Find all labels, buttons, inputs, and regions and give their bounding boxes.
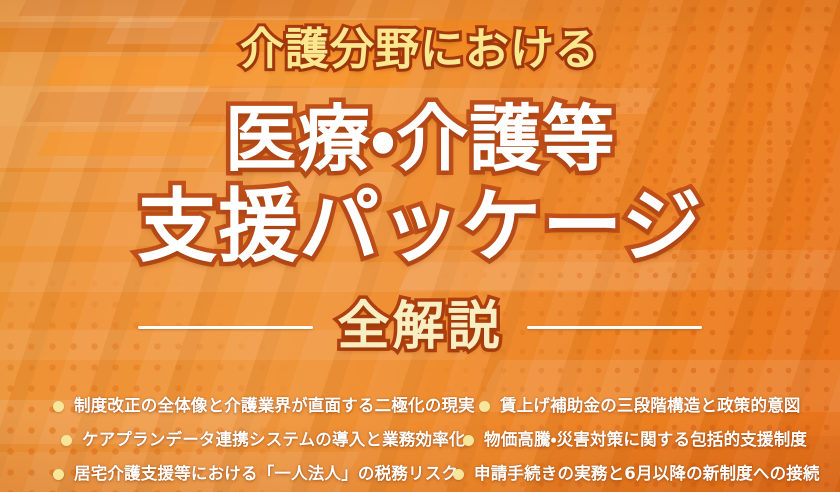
bullet-label: 申請手続きの実務と6月以降の新制度への接続	[474, 466, 820, 483]
bullet-dot-icon	[61, 435, 72, 446]
bullet-column-right: 賃上げ補助金の三段階構造と政策的意図 物価高騰・災害対策に関する包括的支援制度 …	[453, 388, 825, 492]
rule-left	[138, 326, 313, 329]
bullet-label: 賃上げ補助金の三段階構造と政策的意図	[500, 398, 801, 415]
tagline-text: 全解説	[337, 301, 502, 353]
bullet-item: 物価高騰・災害対策に関する包括的支援制度	[463, 425, 807, 455]
bullet-list: 制度改正の全体像と介護業界が直面する二極化の現実 ケアプランデータ連携システムの…	[0, 388, 840, 492]
bullet-label: 物価高騰・災害対策に関する包括的支援制度	[484, 432, 807, 449]
video-thumbnail-banner: 介護分野における 医療・介護等 支援パッケージ 全解説 制度改正の全体像と介護業…	[0, 0, 840, 492]
bullet-dot-icon	[53, 401, 64, 412]
eyebrow-text: 介護分野における	[0, 27, 840, 73]
bullet-item: 制度改正の全体像と介護業界が直面する二極化の現実	[53, 391, 475, 421]
bullet-item: 居宅介護支援等における「一人法人」の税務リスク	[53, 459, 458, 489]
title-line-2: 支援パッケージ	[0, 188, 840, 266]
title-line-1: 医療・介護等	[0, 104, 840, 175]
tagline-row: 全解説	[0, 292, 840, 362]
banner-content: 介護分野における 医療・介護等 支援パッケージ 全解説 制度改正の全体像と介護業…	[0, 0, 840, 492]
bullet-item: ケアプランデータ連携システムの導入と業務効率化	[61, 425, 466, 455]
rule-right	[527, 326, 702, 329]
bullet-item: 賃上げ補助金の三段階構造と政策的意図	[479, 391, 801, 421]
bullet-item: 申請手続きの実務と6月以降の新制度への接続	[453, 459, 820, 489]
bullet-label: ケアプランデータ連携システムの導入と業務効率化	[82, 432, 466, 449]
bullet-dot-icon	[463, 435, 474, 446]
bullet-dot-icon	[479, 401, 490, 412]
bullet-column-left: 制度改正の全体像と介護業界が直面する二極化の現実 ケアプランデータ連携システムの…	[15, 388, 445, 492]
bullet-dot-icon	[53, 469, 64, 480]
bullet-label: 制度改正の全体像と介護業界が直面する二極化の現実	[74, 398, 475, 415]
bullet-dot-icon	[453, 469, 464, 480]
bullet-label: 居宅介護支援等における「一人法人」の税務リスク	[74, 466, 458, 483]
